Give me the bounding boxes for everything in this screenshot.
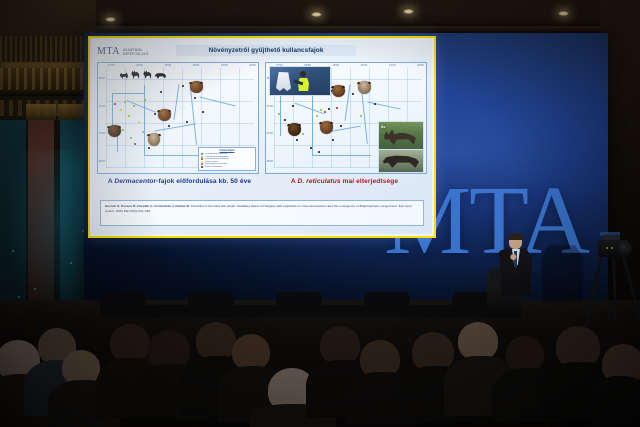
- mta-logo: MTA AKADÉMIAI SZÉKFOGLALÓ: [97, 46, 149, 57]
- ornament-dentil: [0, 36, 96, 62]
- map-legend: Kullancsfajok Dermacentor reticulatus De…: [198, 147, 256, 171]
- audience-head: [506, 336, 544, 372]
- tick-flagging-inset-photo: [269, 66, 331, 96]
- citation-text: Hornok S, Kovács R, Horváth G, Kontschán…: [105, 204, 419, 213]
- audience-head: [320, 326, 360, 364]
- tick-photo: [148, 133, 160, 146]
- chair-row-base: [100, 305, 500, 317]
- maps-row: 17°00'18°00'19°00'20°00'21°00'22°00' 48°…: [97, 62, 427, 174]
- audience-head: [458, 322, 498, 360]
- audience-head: [196, 322, 236, 360]
- slide-content: MTA AKADÉMIAI SZÉKFOGLALÓ Növényzetről g…: [92, 40, 432, 234]
- dog-silhouette-icon: [120, 72, 128, 79]
- mta-logo-mark: MTA: [97, 46, 120, 57]
- cornice-molding: [0, 26, 640, 33]
- audience-head: [110, 324, 150, 362]
- red-deer-figure: [382, 126, 418, 145]
- boar-inset-photo: [378, 149, 424, 173]
- tick-photo: [288, 123, 301, 136]
- presenter-shadow: [540, 244, 584, 302]
- magnification-badge: 5x: [381, 124, 385, 129]
- host-animal-icons: [120, 70, 166, 79]
- left-distribution-map: 17°00'18°00'19°00'20°00'21°00'22°00' 48°…: [97, 62, 259, 174]
- tick-photo: [190, 81, 203, 93]
- audience-head: [232, 334, 270, 370]
- researcher-head: [300, 71, 306, 77]
- right-distribution-map: 17°00'18°00'19°00'20°00'21°00'22°00' 48°…: [265, 62, 427, 174]
- presenter: [499, 234, 533, 296]
- flagging-cloth: [276, 72, 291, 91]
- legend-item: Ixodes acuminatus: [201, 166, 253, 168]
- longitude-ticks: 17°00'18°00'19°00'20°00'21°00'22°00': [108, 64, 256, 67]
- boar-silhouette-icon: [155, 72, 166, 79]
- camera-lens-icon: [619, 242, 632, 255]
- latitude-ticks: 48°00'47°30'47°00'46°30': [99, 77, 106, 163]
- tick-photo: [332, 85, 345, 97]
- chair-row: [100, 292, 500, 314]
- map-captions: A Dermacentor-fajok előfordulása kb. 50 …: [97, 178, 427, 194]
- column-capital: [26, 104, 56, 120]
- tick-photo: [158, 109, 171, 121]
- right-map-caption: A D. reticulatus mai elterjedtsége: [262, 178, 427, 194]
- ceiling-spotlight: [311, 12, 322, 17]
- tick-photo: [108, 125, 121, 137]
- researcher-figure: [296, 71, 310, 92]
- slide-title: Növényzetről gyűjthető kullancsfajok: [176, 45, 356, 56]
- audience: [0, 318, 640, 427]
- mta-logo-subtitle: AKADÉMIAI SZÉKFOGLALÓ: [123, 48, 149, 56]
- hungary-outline: [106, 77, 247, 158]
- ornament-detail: [0, 68, 96, 90]
- citation-box: Hornok S, Kovács R, Horváth G, Kontschán…: [100, 200, 424, 226]
- wild-boar-figure: [383, 154, 419, 168]
- deer-silhouette-icon: [131, 70, 140, 79]
- tick-photo: [358, 81, 371, 94]
- left-map-caption: A Dermacentor-fajok előfordulása kb. 50 …: [97, 178, 262, 194]
- legend-label: Ixodes acuminatus: [205, 166, 223, 168]
- tick-photo: [320, 121, 333, 134]
- ceiling-spotlight: [105, 17, 116, 22]
- ceiling-spotlight: [558, 11, 569, 16]
- conference-photo: MTA MTA AKADÉMIAI SZÉKFOGLALÓ Növényzetr…: [0, 0, 640, 427]
- legend-title: Kullancsfajok: [201, 150, 253, 152]
- deer-inset-photo: 5x: [378, 121, 424, 151]
- ceiling-spotlight: [403, 9, 414, 14]
- left-wall: [0, 0, 96, 340]
- presentation-slide: MTA AKADÉMIAI SZÉKFOGLALÓ Növényzetről g…: [88, 36, 436, 238]
- presenter-hair: [508, 233, 523, 240]
- audience-shoulders: [590, 376, 640, 426]
- deer-silhouette-icon: [143, 70, 152, 79]
- tripod-leg: [622, 257, 640, 327]
